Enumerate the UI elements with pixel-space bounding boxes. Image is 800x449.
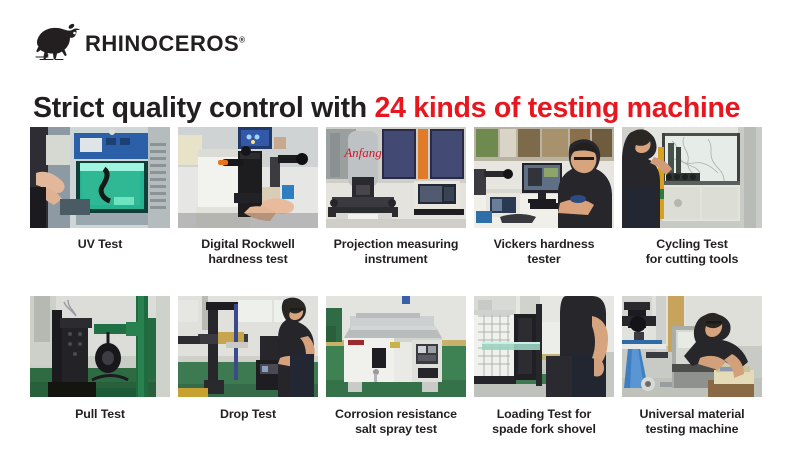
gallery-item-caption: Digital Rockwell hardness test — [173, 237, 323, 267]
caption-line-1: Cycling Test — [617, 237, 767, 252]
salt-spray-chamber-photo — [326, 296, 466, 397]
caption-line-1: Loading Test for — [469, 407, 619, 422]
uv-test-chamber-photo — [30, 127, 170, 228]
gallery-item-caption: Projection measuring instrument — [321, 237, 471, 267]
gallery-item-caption: Corrosion resistance salt spray test — [321, 407, 471, 437]
drop-test-tower-photo — [178, 296, 318, 397]
gallery-item[interactable]: Anfang Projection — [326, 127, 466, 267]
caption-line-2: for cutting tools — [617, 252, 767, 267]
gallery-item-caption: UV Test — [25, 237, 175, 252]
gallery-item-caption: Vickers hardness tester — [469, 237, 619, 267]
title-accent: 24 kinds of testing machine — [375, 92, 741, 124]
projection-measuring-instrument-photo: Anfang — [326, 127, 466, 228]
title-lead: Strict quality control with — [33, 92, 375, 124]
gallery-item[interactable]: Universal material testing machine — [622, 296, 762, 437]
caption-line-2: instrument — [321, 252, 471, 267]
gallery-item[interactable]: Loading Test for spade fork shovel — [474, 296, 614, 437]
gallery-item[interactable]: Vickers hardness tester — [474, 127, 614, 267]
gallery-item-caption: Cycling Test for cutting tools — [617, 237, 767, 267]
gallery-item[interactable]: Pull Test — [30, 296, 170, 422]
caption-line-2: tester — [469, 252, 619, 267]
gallery-row: Pull Test — [30, 296, 774, 437]
gallery-item-caption: Loading Test for spade fork shovel — [469, 407, 619, 437]
caption-line-1: Projection measuring — [321, 237, 471, 252]
brand-logo: RHINOCEROS® — [33, 22, 248, 62]
gallery-item[interactable]: Drop Test — [178, 296, 318, 422]
universal-testing-machine-photo — [622, 296, 762, 397]
caption-line-2: testing machine — [617, 422, 767, 437]
svg-text:Anfang: Anfang — [343, 145, 382, 160]
vickers-hardness-tester-photo — [474, 127, 614, 228]
caption-line-1: Digital Rockwell — [173, 237, 323, 252]
testing-machine-gallery: UV Test — [30, 127, 774, 438]
registered-mark: ® — [239, 36, 245, 45]
gallery-item[interactable]: Corrosion resistance salt spray test — [326, 296, 466, 437]
caption-line-1: Drop Test — [173, 407, 323, 422]
caption-line-1: Vickers hardness — [469, 237, 619, 252]
gallery-item-caption: Universal material testing machine — [617, 407, 767, 437]
gallery-item[interactable]: UV Test — [30, 127, 170, 252]
caption-line-1: Pull Test — [25, 407, 175, 422]
page-title: Strict quality control with 24 kinds of … — [33, 93, 773, 124]
caption-line-2: spade fork shovel — [469, 422, 619, 437]
gallery-item[interactable]: Cycling Test for cutting tools — [622, 127, 762, 267]
gallery-row: UV Test — [30, 127, 774, 267]
caption-line-1: Corrosion resistance — [321, 407, 471, 422]
loading-test-rack-photo — [474, 296, 614, 397]
gallery-item[interactable]: Digital Rockwell hardness test — [178, 127, 318, 267]
caption-line-2: hardness test — [173, 252, 323, 267]
pull-test-rig-photo — [30, 296, 170, 397]
caption-line-1: Universal material — [617, 407, 767, 422]
caption-line-1: UV Test — [25, 237, 175, 252]
slide-root: RHINOCEROS® Strict quality control with … — [0, 0, 800, 449]
gallery-item-caption: Drop Test — [173, 407, 323, 422]
cycling-test-machine-photo — [622, 127, 762, 228]
rhinoceros-icon — [33, 23, 83, 61]
gallery-item-caption: Pull Test — [25, 407, 175, 422]
digital-rockwell-hardness-tester-photo — [178, 127, 318, 228]
caption-line-2: salt spray test — [321, 422, 471, 437]
brand-name: RHINOCEROS® — [85, 33, 246, 55]
